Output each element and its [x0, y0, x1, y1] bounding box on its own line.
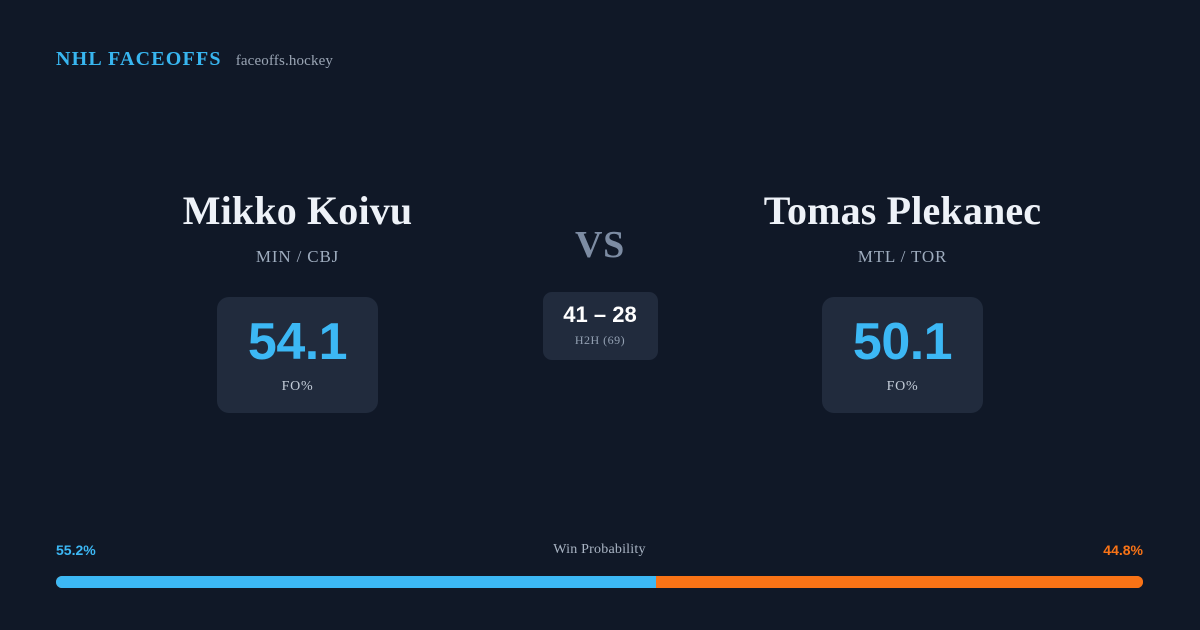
head-to-head-label: H2H (69) — [575, 333, 625, 348]
player-left-teams: MIN / CBJ — [80, 247, 515, 267]
win-probability-bar-right-fill — [656, 576, 1143, 588]
versus-label: VS — [575, 226, 625, 264]
player-right-faceoff-pct: 50.1 — [853, 316, 952, 368]
player-left: Mikko Koivu MIN / CBJ 54.1 FO% — [80, 190, 515, 413]
head-to-head-box: 41 – 28 H2H (69) — [543, 292, 658, 360]
player-right-stat-card: 50.1 FO% — [822, 297, 983, 413]
win-probability-bar — [56, 576, 1143, 588]
player-right-teams: MTL / TOR — [685, 247, 1120, 267]
matchup-section: Mikko Koivu MIN / CBJ 54.1 FO% VS 41 – 2… — [0, 190, 1200, 413]
win-probability-title: Win Probability — [56, 542, 1143, 558]
site-domain: faceoffs.hockey — [236, 53, 333, 70]
player-left-stat-label: FO% — [282, 379, 314, 395]
player-right-name: Tomas Plekanec — [685, 190, 1120, 232]
win-probability-labels: 55.2% Win Probability 44.8% — [56, 542, 1143, 562]
player-left-faceoff-pct: 54.1 — [248, 316, 347, 368]
win-probability-bar-left-fill — [56, 576, 656, 588]
versus-section: VS 41 – 28 H2H (69) — [515, 190, 685, 360]
player-left-stat-card: 54.1 FO% — [217, 297, 378, 413]
player-right-stat-label: FO% — [887, 379, 919, 395]
player-right: Tomas Plekanec MTL / TOR 50.1 FO% — [685, 190, 1120, 413]
header: NHL FACEOFFS faceoffs.hockey — [56, 48, 333, 71]
win-probability-section: 55.2% Win Probability 44.8% — [56, 542, 1143, 588]
brand-logo: NHL FACEOFFS — [56, 48, 222, 71]
scoreboard-graphic: NHL FACEOFFS faceoffs.hockey Mikko Koivu… — [0, 0, 1200, 630]
head-to-head-score: 41 – 28 — [563, 304, 636, 326]
player-left-name: Mikko Koivu — [80, 190, 515, 232]
